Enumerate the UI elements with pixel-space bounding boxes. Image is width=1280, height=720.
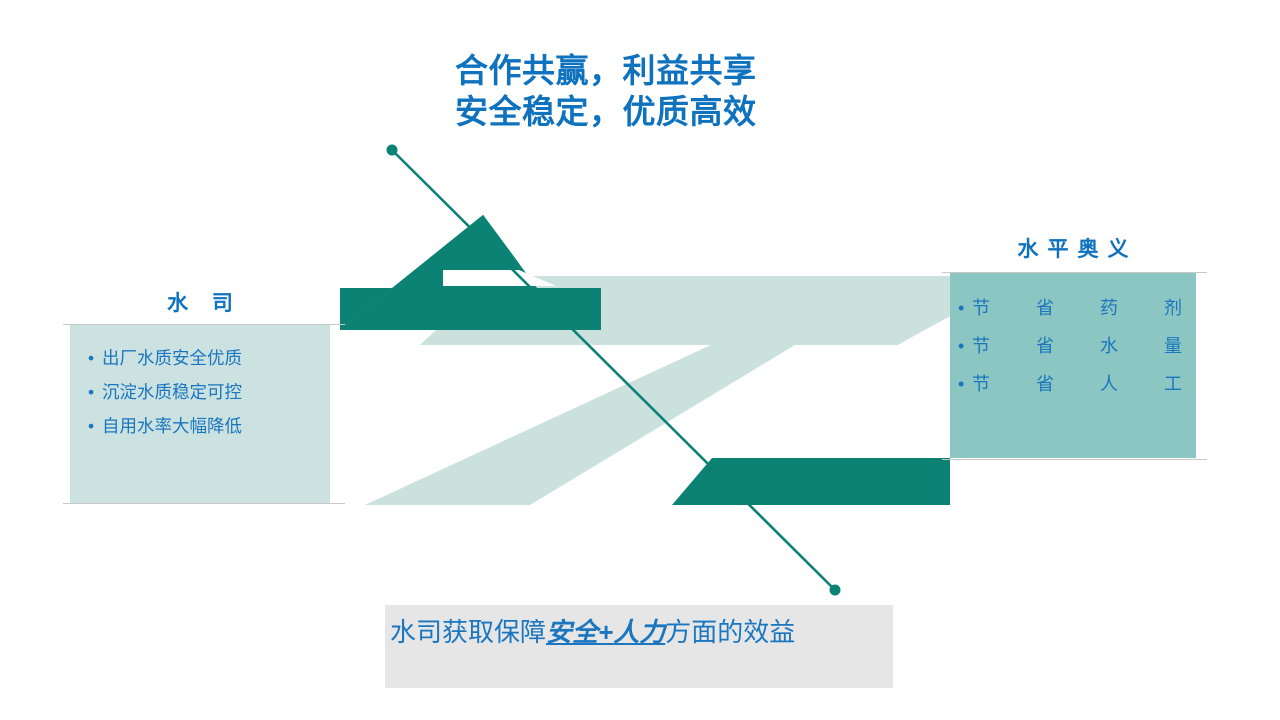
list-item: •出厂水质安全优质	[88, 341, 330, 375]
caption-emphasis-manpower: 人力	[613, 617, 665, 647]
connector-start-dot	[387, 145, 398, 156]
caption-plus: +	[598, 617, 613, 647]
left-panel: •出厂水质安全优质 •沉淀水质稳定可控 •自用水率大幅降低	[70, 325, 330, 503]
right-panel-bottom-rule	[942, 459, 1207, 460]
white-wedge-2	[660, 455, 765, 505]
dark-arrow-tail-lower-right	[672, 458, 950, 505]
dark-trapezoid-top	[672, 458, 950, 505]
bullet-icon: •	[88, 375, 102, 409]
list-item-label: 沉淀水质稳定可控	[102, 382, 242, 402]
left-panel-bottom-rule	[63, 503, 345, 504]
white-wedge	[664, 450, 760, 505]
bullet-icon: •	[88, 341, 102, 375]
list-item: •沉淀水质稳定可控	[88, 375, 330, 409]
slide-canvas: 合作共赢，利益共享 安全稳定，优质高效 水 司 •出厂水质安全优质 •沉淀水质稳…	[0, 0, 1280, 720]
left-panel-heading: 水 司	[70, 287, 330, 317]
list-item: •自用水率大幅降低	[88, 409, 330, 443]
list-item-label: 出厂水质安全优质	[102, 348, 242, 368]
list-item-label: 节省药剂	[972, 289, 1182, 327]
bullet-icon: •	[88, 409, 102, 443]
caption-prefix: 水司获取保障	[390, 617, 546, 647]
page-title: 合作共赢，利益共享 安全稳定，优质高效	[455, 50, 875, 132]
bullet-icon: •	[958, 365, 972, 403]
list-item: •节省水量	[958, 327, 1196, 365]
list-item-label: 节省人工	[972, 365, 1182, 403]
caption-emphasis-safety: 安全	[546, 617, 598, 647]
connector-line	[387, 145, 841, 596]
list-item-label: 节省水量	[972, 327, 1182, 365]
list-item: •节省药剂	[958, 289, 1196, 327]
right-panel-list: •节省药剂 •节省水量 •节省人工	[950, 273, 1196, 403]
bullet-icon: •	[958, 289, 972, 327]
caption-suffix: 方面的效益	[665, 617, 795, 647]
caption: 水司获取保障安全+人力方面的效益	[390, 612, 890, 652]
right-panel-heading: 水平奥义	[950, 233, 1196, 263]
list-item-label: 自用水率大幅降低	[102, 416, 242, 436]
dark-arrow-head-upper-left	[340, 215, 601, 330]
left-panel-list: •出厂水质安全优质 •沉淀水质稳定可控 •自用水率大幅降低	[70, 325, 330, 443]
list-item: •节省人工	[958, 365, 1196, 403]
right-panel: •节省药剂 •节省水量 •节省人工	[950, 273, 1196, 458]
bullet-icon: •	[958, 327, 972, 365]
connector-end-dot	[830, 585, 841, 596]
